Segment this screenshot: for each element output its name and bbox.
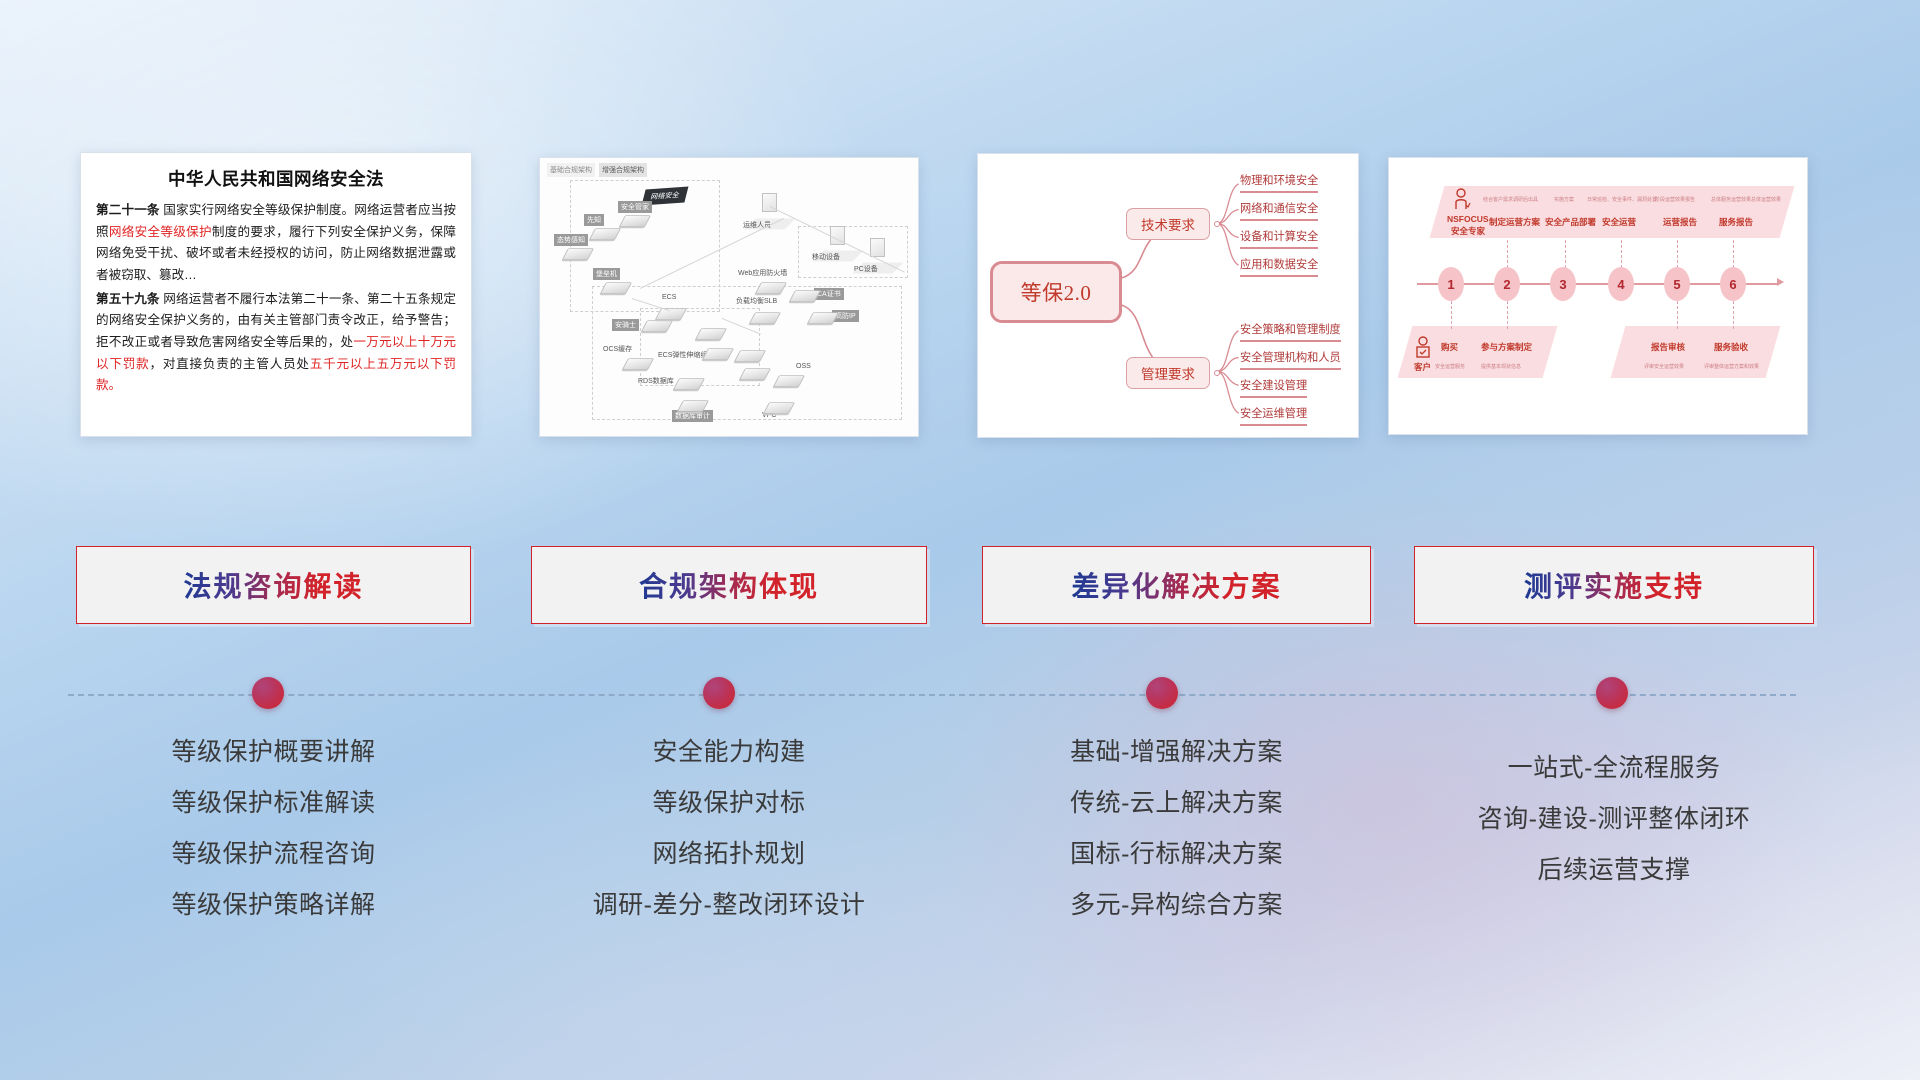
mindmap-leaf-app-data: 应用和数据安全 <box>1240 256 1318 277</box>
law-article-21: 第二十一条 国家实行网络安全等级保护制度。网络运营者应当按照网络安全等级保护制度… <box>96 200 456 287</box>
article-59-text-b: ，对直接负责的主管人员处 <box>149 357 309 371</box>
list-item: 等级保护对标 <box>531 791 927 816</box>
card-law-text: 中华人民共和国网络安全法 第二十一条 国家实行网络安全等级保护制度。网络运营者应… <box>80 152 472 437</box>
axis-marker-4[interactable] <box>1596 677 1628 709</box>
node-security-housekeeper: 安全管家 <box>622 213 648 229</box>
bottom-step-3-main: 报告审核 <box>1651 341 1685 353</box>
mindmap: 等保2.0 技术要求 物理和环境安全 网络和通信安全 设备和计算安全 应用和数据… <box>978 154 1358 437</box>
law-title: 中华人民共和国网络安全法 <box>96 166 456 191</box>
headline-title-2: 合规架构体现 <box>639 565 819 605</box>
node-situation-awareness: 态势感知 <box>565 246 591 262</box>
top-step-4-sub: 阶段运营效果报告 <box>1655 196 1695 203</box>
list-item: 等级保护标准解读 <box>76 791 471 816</box>
timeline-node-5[interactable]: 5 <box>1664 267 1690 301</box>
feature-list-1: 等级保护概要讲解 等级保护标准解读 等级保护流程咨询 等级保护策略详解 <box>76 740 471 944</box>
bottom-step-2-sub: 提供基本现状信息 <box>1481 363 1521 370</box>
expert-label-line-2: 安全专家 <box>1451 225 1485 237</box>
customer-label: 客户 <box>1414 361 1431 373</box>
top-step-3-sub: 日常巡检、安全事件、漏洞处置 <box>1587 196 1657 203</box>
feature-list-3: 基础-增强解决方案 传统-云上解决方案 国标-行标解决方案 多元-异构综合方案 <box>982 740 1371 944</box>
top-step-4-main: 运营报告 <box>1663 216 1697 228</box>
architecture-tabs: 基础合规架构 增强合规架构 <box>547 163 647 177</box>
bottom-step-1-sub: 安全运营服务 <box>1435 363 1465 370</box>
terminal-pc-device <box>870 238 885 257</box>
node-ecs-instance-d <box>742 366 768 382</box>
mindmap-collapse-dot-management[interactable] <box>1214 370 1220 376</box>
top-step-1-main: 制定运营方案 <box>1489 216 1540 228</box>
list-item: 多元-异构综合方案 <box>982 893 1371 918</box>
list-item: 咨询-建设-测评整体闭环 <box>1414 807 1814 832</box>
headline-title-1: 法规咨询解读 <box>183 565 363 605</box>
node-database-audit: 数据库审计 <box>680 398 706 414</box>
article-21-highlight: 网络安全等级保护 <box>109 225 212 239</box>
bottom-step-4-sub: 评审整体运营方案和效果 <box>1704 363 1759 370</box>
bottom-step-1-main: 购买 <box>1441 341 1458 353</box>
node-bastion-host: 堡垒机 <box>603 280 629 296</box>
top-step-5-sub: 总体服务运营效果总体运营效果 <box>1711 196 1781 203</box>
mindmap-leaf-network-comm: 网络和通信安全 <box>1240 200 1318 221</box>
timeline-connector-bottom-2 <box>1507 301 1508 329</box>
expert-label-line-1: NSFOCUS <box>1447 214 1489 224</box>
architecture-diagram: 基础合规架构 增强合规架构 网络安全 态势感知 先知 安全管家 堡 <box>540 158 918 436</box>
slide-canvas: 中华人民共和国网络安全法 第二十一条 国家实行网络安全等级保护制度。网络运营者应… <box>0 0 1920 1080</box>
article-59-label: 第五十九条 <box>96 292 160 306</box>
tab-basic-compliance[interactable]: 基础合规架构 <box>547 163 595 177</box>
headline-title-4: 测评实施支持 <box>1524 565 1704 605</box>
list-item: 安全能力构建 <box>531 740 927 765</box>
top-step-3-main: 安全运营 <box>1602 216 1636 228</box>
timeline-node-2[interactable]: 2 <box>1494 267 1520 301</box>
timeline-connector-top-2 <box>1507 240 1508 268</box>
top-step-5-main: 服务报告 <box>1719 216 1753 228</box>
timeline-connector-bottom-1 <box>1451 301 1452 329</box>
list-item: 等级保护流程咨询 <box>76 842 471 867</box>
axis-marker-2[interactable] <box>703 677 735 709</box>
node-ecs-instance-b <box>705 346 731 362</box>
timeline-node-6[interactable]: 6 <box>1720 267 1746 301</box>
tab-enhanced-compliance[interactable]: 增强合规架构 <box>599 163 647 177</box>
timeline-connector-top-5 <box>1677 240 1678 268</box>
list-item: 等级保护策略详解 <box>76 893 471 918</box>
customer-person-icon <box>1415 336 1431 360</box>
node-vpc: VPC <box>766 400 792 416</box>
node-ca-certificate: CA证书 <box>792 288 818 304</box>
article-21-label: 第二十一条 <box>96 203 160 217</box>
card-cloud-architecture: 基础合规架构 增强合规架构 网络安全 态势感知 先知 安全管家 堡 <box>539 157 919 437</box>
timeline-node-3[interactable]: 3 <box>1550 267 1576 301</box>
node-anti-ddos-ip: 高防IP <box>810 310 836 326</box>
mindmap-leaf-operations-mgmt: 安全运维管理 <box>1240 405 1307 426</box>
node-slb: 负载均衡SLB <box>752 310 778 326</box>
feature-list-2: 安全能力构建 等级保护对标 网络拓扑规划 调研-差分-整改闭环设计 <box>531 740 927 944</box>
top-step-2-main: 安全产品部署 <box>1545 216 1596 228</box>
mindmap-leaf-physical-env: 物理和环境安全 <box>1240 172 1318 193</box>
timeline-dashed-axis <box>68 694 1796 696</box>
list-item: 等级保护概要讲解 <box>76 740 471 765</box>
mindmap-leaf-construction-mgmt: 安全建设管理 <box>1240 377 1307 398</box>
feature-list-4: 一站式-全流程服务 咨询-建设-测评整体闭环 后续运营支撑 <box>1414 756 1814 909</box>
list-item: 后续运营支撑 <box>1414 858 1814 883</box>
mindmap-root-node: 等保2.0 <box>990 261 1122 323</box>
timeline-connector-top-4 <box>1621 240 1622 268</box>
card-service-timeline: NSFOCUS 安全专家 结合客户需求调研后出具 制定运营方案 实施方案 安全产… <box>1388 157 1808 435</box>
service-timeline: NSFOCUS 安全专家 结合客户需求调研后出具 制定运营方案 实施方案 安全产… <box>1389 158 1807 434</box>
headline-box-1[interactable]: 法规咨询解读 <box>76 546 471 624</box>
law-article-59: 第五十九条 网络运营者不履行本法第二十一条、第二十五条规定的网络安全保护义务的，… <box>96 289 456 397</box>
mindmap-leaf-device-compute: 设备和计算安全 <box>1240 228 1318 249</box>
axis-marker-1[interactable] <box>252 677 284 709</box>
mindmap-collapse-dot-technical[interactable] <box>1214 221 1220 227</box>
timeline-arrow-head <box>1777 278 1784 286</box>
list-item: 调研-差分-整改闭环设计 <box>531 893 927 918</box>
law-content: 中华人民共和国网络安全法 第二十一条 国家实行网络安全等级保护制度。网络运营者应… <box>81 153 471 397</box>
mindmap-leaf-policy-system: 安全策略和管理制度 <box>1240 321 1341 342</box>
bottom-step-4-main: 服务验收 <box>1714 341 1748 353</box>
bottom-step-2-main: 参与方案制定 <box>1481 341 1532 353</box>
expert-person-icon <box>1453 188 1471 210</box>
mindmap-branch-technical: 技术要求 <box>1126 208 1210 240</box>
list-item: 传统-云上解决方案 <box>982 791 1371 816</box>
top-step-2-sub: 实施方案 <box>1554 196 1574 203</box>
node-waf: Web应用防火墙 <box>758 280 784 296</box>
timeline-connector-bottom-6 <box>1733 301 1734 329</box>
list-item: 一站式-全流程服务 <box>1414 756 1814 781</box>
node-ocs-cache: OCS缓存 <box>625 356 651 372</box>
timeline-node-4[interactable]: 4 <box>1608 267 1634 301</box>
mindmap-branch-management: 管理要求 <box>1126 357 1210 389</box>
timeline-connector-bottom-5 <box>1677 301 1678 329</box>
node-rds-database: RDS数据库 <box>676 376 702 392</box>
node-xianzhi: 先知 <box>592 226 618 242</box>
axis-marker-3[interactable] <box>1146 677 1178 709</box>
headline-title-3: 差异化解决方案 <box>1071 565 1281 605</box>
timeline-banner-customer-right <box>1611 326 1781 378</box>
timeline-connector-top-3 <box>1565 240 1566 268</box>
top-step-1-sub: 结合客户需求调研后出具 <box>1483 196 1538 203</box>
headline-box-3[interactable]: 差异化解决方案 <box>982 546 1371 624</box>
headline-box-4[interactable]: 测评实施支持 <box>1414 546 1814 624</box>
headline-box-2[interactable]: 合规架构体现 <box>531 546 927 624</box>
timeline-node-1[interactable]: 1 <box>1438 267 1464 301</box>
list-item: 网络拓扑规划 <box>531 842 927 867</box>
node-ecs-scaling-group: ECS弹性伸缩组 <box>698 326 724 342</box>
bottom-step-3-sub: 评审安全运营效果 <box>1644 363 1684 370</box>
list-item: 国标-行标解决方案 <box>982 842 1371 867</box>
mindmap-leaf-org-personnel: 安全管理机构和人员 <box>1240 349 1341 370</box>
node-oss: OSS <box>776 373 802 389</box>
list-item: 基础-增强解决方案 <box>982 740 1371 765</box>
timeline-connector-top-6 <box>1733 240 1734 268</box>
node-ecs-instance-c <box>737 348 763 364</box>
card-mindmap-dengbao: 等保2.0 技术要求 物理和环境安全 网络和通信安全 设备和计算安全 应用和数据… <box>977 153 1359 438</box>
